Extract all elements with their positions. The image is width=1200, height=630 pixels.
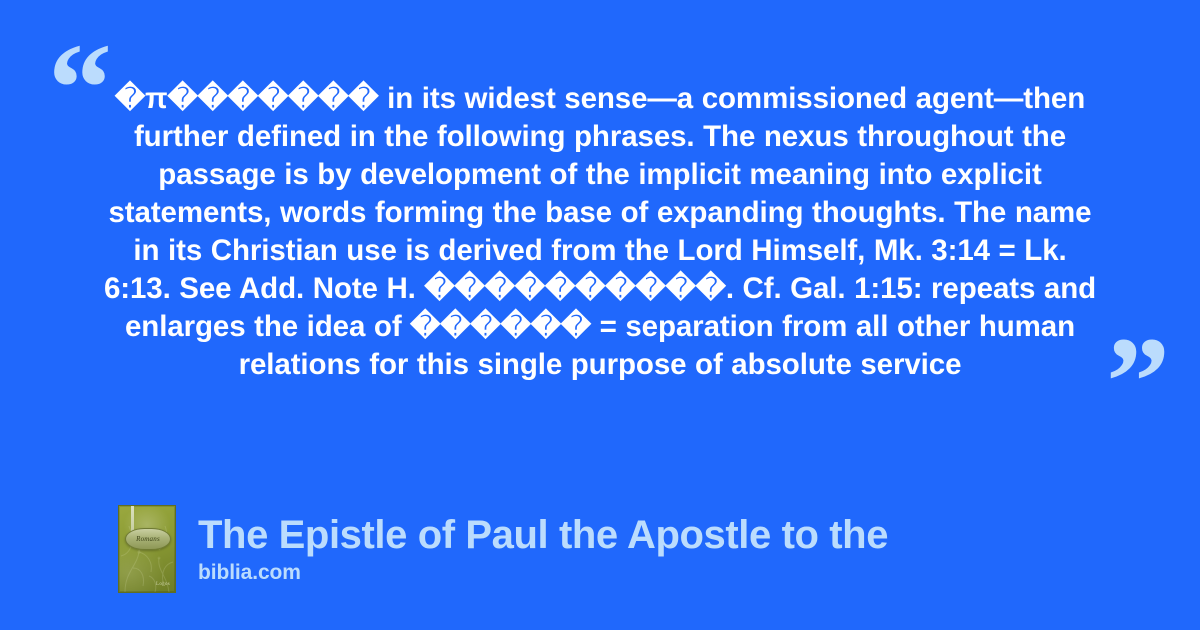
source-title[interactable]: The Epistle of Paul the Apostle to the: [198, 512, 888, 558]
quote-text: �π������� in its widest sense—a commissi…: [100, 80, 1100, 384]
book-cover-label: Romans: [125, 528, 171, 550]
book-cover-imprint: Logos: [156, 582, 170, 587]
source-url[interactable]: biblia.com: [198, 559, 888, 587]
book-cover-label-text: Romans: [136, 535, 160, 543]
closing-quote-icon: ”: [1106, 318, 1170, 446]
quote-card: “ �π������� in its widest sense—a commis…: [0, 0, 1200, 630]
source-attribution[interactable]: Romans Logos The Epistle of Paul the Apo…: [118, 505, 888, 593]
book-cover-thumbnail[interactable]: Romans Logos: [118, 505, 176, 593]
quote-body: �π������� in its widest sense—a commissi…: [100, 80, 1100, 384]
bookmark-ribbon-icon: [131, 506, 134, 532]
source-text-group: The Epistle of Paul the Apostle to the b…: [198, 512, 888, 587]
